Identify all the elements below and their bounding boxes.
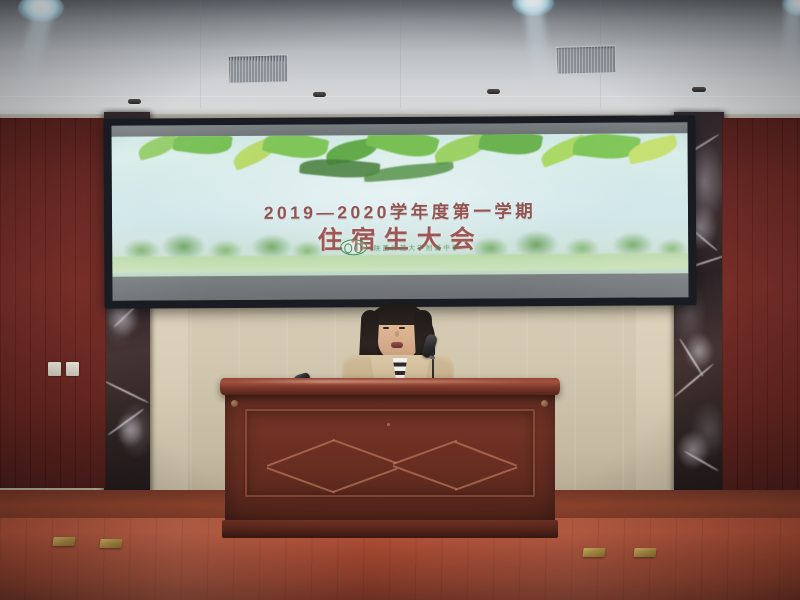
- ceiling-downlight-1: [128, 99, 141, 104]
- podium-corner-cap-right: [541, 400, 548, 407]
- screen-letterbox-bottom: [112, 273, 688, 301]
- ceiling-downlight-3: [487, 89, 500, 94]
- ceiling: [0, 0, 800, 122]
- wall-switch-1[interactable]: [48, 362, 61, 376]
- floor-outlet-2[interactable]: [99, 539, 122, 548]
- auditorium-photo: 2019—2020学年度第一学期 住宿生大会 陕西师范大学附属中学: [0, 0, 800, 600]
- school-emblem-icon: [340, 239, 367, 255]
- floor-outlet-3[interactable]: [582, 548, 605, 557]
- podium-plinth: [222, 520, 558, 538]
- wood-wall-panel-left: [0, 118, 106, 488]
- podium-corner-cap-left: [231, 400, 238, 407]
- wall-switch-2[interactable]: [66, 362, 79, 376]
- hvac-vent-left: [228, 54, 289, 83]
- wood-wall-panel-right: [722, 118, 800, 494]
- presentation-slide: 2019—2020学年度第一学期 住宿生大会 陕西师范大学附属中学: [112, 133, 689, 277]
- ceiling-downlight-2: [313, 92, 326, 97]
- mouth-speaking: [391, 342, 403, 348]
- screen-surface: 2019—2020学年度第一学期 住宿生大会 陕西师范大学附属中学: [111, 122, 688, 301]
- hvac-vent-right: [556, 45, 617, 75]
- projection-screen: 2019—2020学年度第一学期 住宿生大会 陕西师范大学附属中学: [103, 115, 696, 309]
- ceiling-downlight-4: [692, 87, 706, 92]
- podium-inset-panel: [245, 409, 535, 497]
- school-name-text: 陕西师范大学附属中学: [374, 242, 461, 253]
- floor-outlet-1[interactable]: [52, 537, 75, 546]
- podium-front-panel: [225, 393, 555, 523]
- nose: [395, 331, 399, 337]
- podium: [225, 378, 555, 538]
- floor-outlet-4[interactable]: [633, 548, 656, 557]
- podium-desktop: [220, 378, 560, 395]
